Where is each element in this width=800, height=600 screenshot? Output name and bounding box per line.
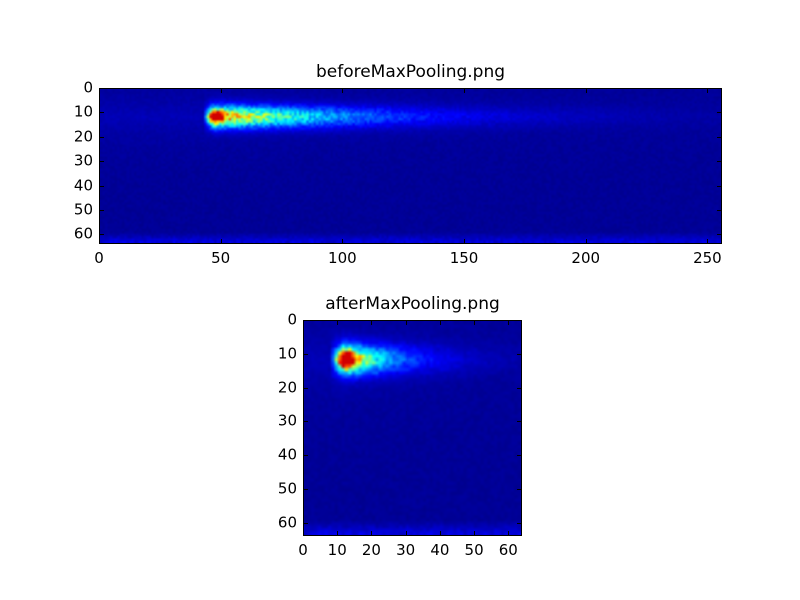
panel-after-title: afterMaxPooling.png — [303, 296, 522, 313]
ytick-label: 50 — [53, 202, 93, 217]
ytick-mark — [304, 455, 308, 456]
ytick-label: 20 — [53, 129, 93, 144]
ytick-label: 20 — [257, 380, 297, 395]
panel-before-title: beforeMaxPooling.png — [99, 64, 722, 81]
heatmap-image-before — [100, 89, 721, 243]
ytick-mark-right — [717, 88, 721, 89]
ytick-label: 50 — [257, 481, 297, 496]
xtick-mark-top — [586, 89, 587, 93]
xtick-mark-top — [474, 321, 475, 325]
xtick-mark — [707, 239, 708, 243]
xtick-label: 50 — [465, 543, 484, 558]
xtick-mark-top — [508, 321, 509, 325]
ytick-mark-right — [517, 354, 521, 355]
ytick-mark-right — [717, 210, 721, 211]
axes-after[interactable] — [303, 320, 522, 536]
ytick-label: 40 — [53, 178, 93, 193]
xtick-mark-top — [303, 321, 304, 325]
xtick-mark — [303, 531, 304, 535]
ytick-mark-right — [717, 234, 721, 235]
xtick-mark-top — [707, 89, 708, 93]
xtick-label: 250 — [693, 251, 722, 266]
xtick-mark — [99, 239, 100, 243]
ytick-label: 40 — [257, 448, 297, 463]
ytick-mark-right — [717, 186, 721, 187]
ytick-mark-right — [517, 320, 521, 321]
ytick-label: 10 — [257, 346, 297, 361]
xtick-mark — [474, 531, 475, 535]
ytick-mark — [100, 161, 104, 162]
xtick-label: 150 — [450, 251, 479, 266]
ytick-label: 30 — [257, 414, 297, 429]
xtick-mark-top — [99, 89, 100, 93]
ytick-mark-right — [517, 455, 521, 456]
ytick-mark-right — [717, 112, 721, 113]
xtick-label: 0 — [94, 251, 104, 266]
ytick-mark — [100, 186, 104, 187]
ytick-mark-right — [517, 523, 521, 524]
ytick-mark — [304, 489, 308, 490]
xtick-mark — [221, 239, 222, 243]
ytick-mark-right — [517, 388, 521, 389]
xtick-label: 0 — [298, 543, 308, 558]
ytick-label: 0 — [53, 81, 93, 96]
xtick-mark-top — [342, 89, 343, 93]
ytick-mark-right — [717, 161, 721, 162]
heatmap-image-after — [304, 321, 521, 535]
xtick-label: 20 — [362, 543, 381, 558]
xtick-label: 30 — [396, 543, 415, 558]
ytick-label: 60 — [257, 515, 297, 530]
axes-before[interactable] — [99, 88, 722, 244]
ytick-mark — [304, 421, 308, 422]
xtick-mark — [508, 531, 509, 535]
xtick-mark-top — [221, 89, 222, 93]
ytick-mark — [100, 137, 104, 138]
xtick-mark-top — [406, 321, 407, 325]
xtick-mark — [342, 239, 343, 243]
ytick-mark — [100, 210, 104, 211]
ytick-mark — [304, 320, 308, 321]
ytick-mark — [304, 523, 308, 524]
xtick-mark-top — [464, 89, 465, 93]
ytick-mark — [100, 88, 104, 89]
xtick-mark — [440, 531, 441, 535]
xtick-mark — [586, 239, 587, 243]
ytick-mark — [304, 354, 308, 355]
xtick-label: 40 — [430, 543, 449, 558]
ytick-mark — [304, 388, 308, 389]
xtick-label: 100 — [328, 251, 357, 266]
matplotlib-figure: beforeMaxPooling.png 0501001502002500102… — [0, 0, 800, 600]
xtick-mark — [464, 239, 465, 243]
xtick-mark-top — [337, 321, 338, 325]
xtick-label: 10 — [328, 543, 347, 558]
ytick-label: 60 — [53, 227, 93, 242]
xtick-label: 60 — [499, 543, 518, 558]
xtick-label: 50 — [211, 251, 230, 266]
xtick-mark — [337, 531, 338, 535]
ytick-mark-right — [717, 137, 721, 138]
xtick-mark-top — [371, 321, 372, 325]
ytick-mark — [100, 234, 104, 235]
ytick-mark-right — [517, 421, 521, 422]
xtick-label: 200 — [571, 251, 600, 266]
xtick-mark-top — [440, 321, 441, 325]
ytick-label: 0 — [257, 313, 297, 328]
xtick-mark — [406, 531, 407, 535]
ytick-label: 30 — [53, 154, 93, 169]
xtick-mark — [371, 531, 372, 535]
ytick-mark-right — [517, 489, 521, 490]
ytick-label: 10 — [53, 105, 93, 120]
ytick-mark — [100, 112, 104, 113]
